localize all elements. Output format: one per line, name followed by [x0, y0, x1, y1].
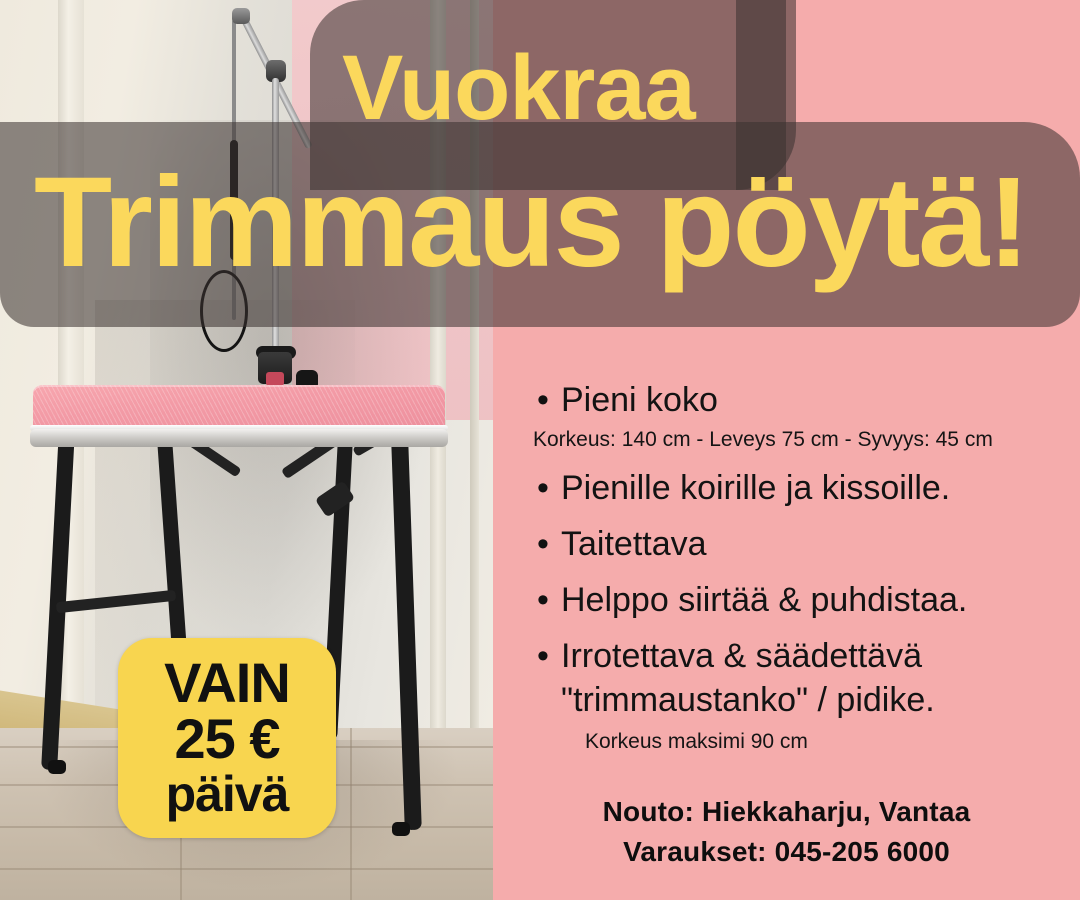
feature-item-3: • Taitettava	[537, 522, 1080, 566]
contact-pickup: Nouto: Hiekkaharju, Vantaa	[493, 792, 1080, 832]
feature-text: Irrotettava & säädettävä "trimmaustanko"…	[561, 634, 1031, 722]
feature-text: Pienille koirille ja kissoille.	[561, 466, 950, 510]
feature-subtext-5: Korkeus maksimi 90 cm	[585, 728, 1080, 756]
bullet-icon: •	[537, 634, 561, 678]
headline-block: Vuokraa Trimmaus pöytä!	[0, 0, 1080, 330]
feature-item-4: • Helppo siirtää & puhdistaa.	[537, 578, 1080, 622]
bullet-icon: •	[537, 522, 561, 566]
price-badge-line-3: päivä	[166, 768, 289, 820]
price-badge-line-2: 25 €	[175, 710, 280, 768]
feature-item-5: • Irrotettava & säädettävä "trimmaustank…	[537, 634, 1080, 722]
headline-line-1: Vuokraa	[342, 40, 695, 136]
bullet-icon: •	[537, 378, 561, 422]
grooming-arm-clamp-red	[266, 372, 284, 386]
table-foot-right	[392, 822, 410, 836]
price-badge-line-1: VAIN	[164, 656, 290, 710]
contact-booking: Varaukset: 045-205 6000	[493, 832, 1080, 872]
feature-subtext-1: Korkeus: 140 cm - Leveys 75 cm - Syvyys:…	[533, 426, 1080, 454]
table-foot-left	[48, 760, 66, 774]
table-aluminium-rim	[30, 429, 448, 447]
table-top	[33, 385, 445, 451]
bullet-icon: •	[537, 466, 561, 510]
headline-line-2: Trimmaus pöytä!	[34, 158, 1028, 288]
price-badge: VAIN 25 € päivä	[118, 638, 336, 838]
feature-item-1: • Pieni koko	[537, 378, 1080, 422]
contact-block: Nouto: Hiekkaharju, Vantaa Varaukset: 04…	[493, 792, 1080, 872]
feature-text: Pieni koko	[561, 378, 718, 422]
feature-text: Taitettava	[561, 522, 707, 566]
feature-item-2: • Pienille koirille ja kissoille.	[537, 466, 1080, 510]
feature-text: Helppo siirtää & puhdistaa.	[561, 578, 967, 622]
feature-list: • Pieni koko Korkeus: 140 cm - Leveys 75…	[493, 330, 1080, 900]
poster-root: Vuokraa Trimmaus pöytä! VAIN 25 € päivä …	[0, 0, 1080, 900]
bullet-icon: •	[537, 578, 561, 622]
